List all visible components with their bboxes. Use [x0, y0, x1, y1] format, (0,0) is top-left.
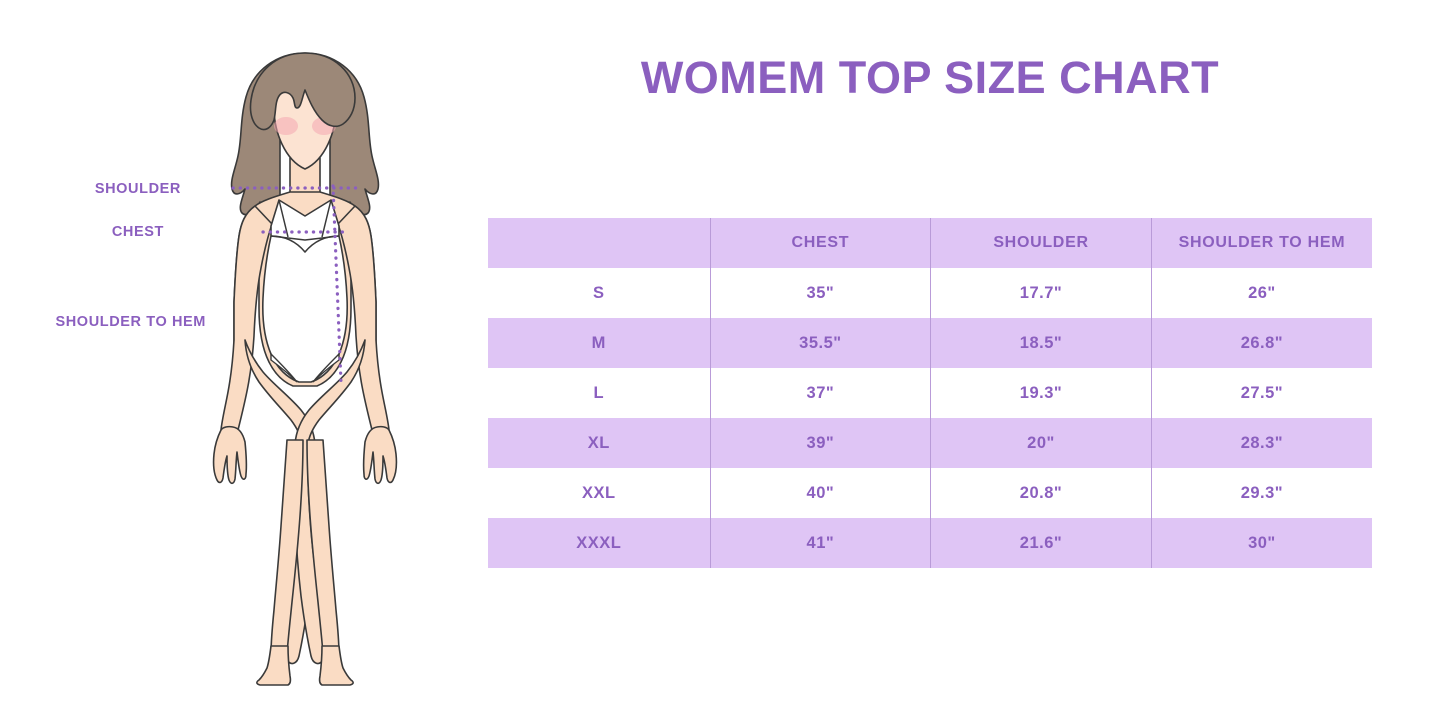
cell-shoulder-to-hem: 26.8"	[1151, 318, 1372, 368]
cell-size: XXXL	[488, 518, 710, 568]
cell-shoulder-to-hem: 30"	[1151, 518, 1372, 568]
cell-size: L	[488, 368, 710, 418]
cell-shoulder-to-hem: 27.5"	[1151, 368, 1372, 418]
cell-chest: 39"	[710, 418, 931, 468]
table-row: L 37" 19.3" 27.5"	[488, 368, 1372, 418]
left-foot-shape	[257, 646, 291, 685]
label-shoulder-to-hem: SHOULDER TO HEM	[0, 314, 206, 330]
cell-chest: 37"	[710, 368, 931, 418]
table-row: XXL 40" 20.8" 29.3"	[488, 468, 1372, 518]
page-title: WOMEM TOP SIZE CHART	[488, 52, 1372, 104]
size-chart-page: WOMEM TOP SIZE CHART	[0, 0, 1445, 723]
label-chest: CHEST	[0, 224, 164, 240]
cell-size: M	[488, 318, 710, 368]
cell-shoulder-to-hem: 26"	[1151, 268, 1372, 318]
cell-shoulder: 19.3"	[931, 368, 1152, 418]
cell-size: XXL	[488, 468, 710, 518]
column-header-shoulder-to-hem: SHOULDER TO HEM	[1151, 218, 1372, 268]
left-hand-shape	[214, 427, 247, 484]
column-header-chest: CHEST	[710, 218, 931, 268]
cell-shoulder: 20.8"	[931, 468, 1152, 518]
label-shoulder: SHOULDER	[0, 181, 181, 197]
cell-shoulder: 20"	[931, 418, 1152, 468]
table-row: S 35" 17.7" 26"	[488, 268, 1372, 318]
blush-left-icon	[274, 117, 298, 135]
cell-size: XL	[488, 418, 710, 468]
table-header-row: CHEST SHOULDER SHOULDER TO HEM	[488, 218, 1372, 268]
table-row: M 35.5" 18.5" 26.8"	[488, 318, 1372, 368]
column-header-shoulder: SHOULDER	[931, 218, 1152, 268]
cell-size: S	[488, 268, 710, 318]
body-illustration	[175, 40, 435, 690]
size-chart-table: CHEST SHOULDER SHOULDER TO HEM S 35" 17.…	[488, 218, 1372, 568]
table-row: XL 39" 20" 28.3"	[488, 418, 1372, 468]
cell-shoulder-to-hem: 28.3"	[1151, 418, 1372, 468]
cell-chest: 41"	[710, 518, 931, 568]
column-header-size	[488, 218, 710, 268]
table-row: XXXL 41" 21.6" 30"	[488, 518, 1372, 568]
figure-panel: SHOULDER CHEST SHOULDER TO HEM	[0, 0, 470, 723]
cell-chest: 35"	[710, 268, 931, 318]
cell-shoulder: 17.7"	[931, 268, 1152, 318]
table-body: S 35" 17.7" 26" M 35.5" 18.5" 26.8" L 37…	[488, 268, 1372, 568]
cell-shoulder: 18.5"	[931, 318, 1152, 368]
cell-chest: 40"	[710, 468, 931, 518]
bodysuit-garment-shape	[263, 200, 347, 382]
cell-chest: 35.5"	[710, 318, 931, 368]
table-header: CHEST SHOULDER SHOULDER TO HEM	[488, 218, 1372, 268]
cell-shoulder-to-hem: 29.3"	[1151, 468, 1372, 518]
cell-shoulder: 21.6"	[931, 518, 1152, 568]
right-foot-shape	[320, 646, 354, 685]
right-hand-shape	[364, 427, 397, 484]
